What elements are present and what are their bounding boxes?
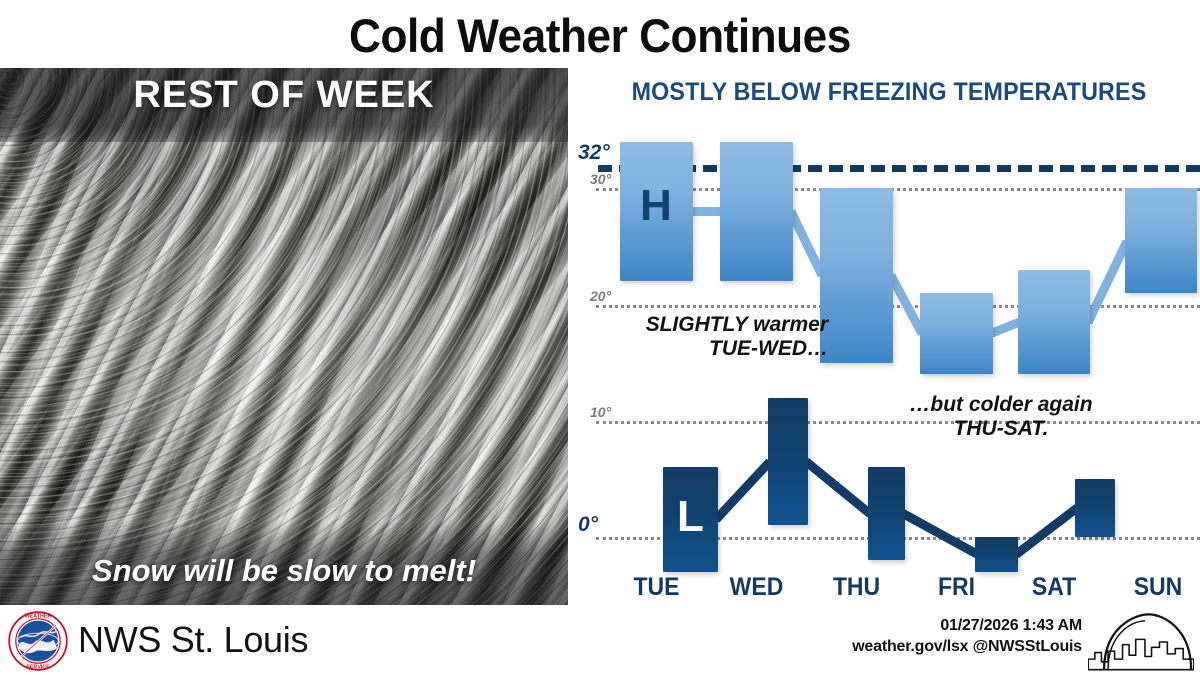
snow-photo-panel: REST OF WEEK Snow will be slow to melt! xyxy=(0,68,568,605)
day-label-sat: SAT xyxy=(1021,573,1087,602)
page-title: Cold Weather Continues xyxy=(349,12,851,59)
axis-tick-label-32: 32° xyxy=(578,141,610,165)
footer-social-handle: weather.gov/lsx @NWSStLouis xyxy=(852,638,1082,656)
low-connector-1 xyxy=(803,458,873,517)
high-connector-0 xyxy=(691,207,722,216)
axis-tick-label-30: 30° xyxy=(590,171,611,187)
day-label-wed: WED xyxy=(723,573,790,602)
low-bar-fri xyxy=(975,537,1018,572)
temperature-chart-panel: MOSTLY BELOW FREEZING TEMPERATURES 32°30… xyxy=(578,68,1200,605)
low-marker-letter: L xyxy=(677,495,704,539)
high-bar-sun xyxy=(1125,188,1197,293)
annotation-colder-line2: THU-SAT. xyxy=(876,417,1126,441)
annotation-warmer: SLIGHTLY warmerTUE-WED… xyxy=(592,313,828,362)
svg-text:SERVICE: SERVICE xyxy=(26,665,50,671)
footer-bar: WEATHER SERVICE NWS St. Louis 01/27/2026… xyxy=(0,605,1200,675)
title-bar: Cold Weather Continues xyxy=(0,0,1200,70)
annotation-colder-line1: …but colder again xyxy=(876,393,1126,417)
st-louis-arch-icon xyxy=(1088,613,1194,671)
footer-meta: 01/27/2026 1:43 AM weather.gov/lsx @NWSS… xyxy=(852,617,1082,656)
day-label-sun: SUN xyxy=(1121,573,1195,602)
low-connector-2 xyxy=(901,510,979,559)
annotation-warmer-line1: SLIGHTLY warmer xyxy=(592,313,828,337)
footer-timestamp: 01/27/2026 1:43 AM xyxy=(852,617,1082,635)
svg-text:WEATHER: WEATHER xyxy=(25,614,52,620)
day-label-fri: FRI xyxy=(923,573,990,602)
high-bar-thu xyxy=(820,188,893,362)
photo-caption: Snow will be slow to melt! xyxy=(0,553,568,589)
day-label-tue: TUE xyxy=(623,573,690,602)
photo-overlay-title: REST OF WEEK xyxy=(0,74,568,117)
low-connector-0 xyxy=(713,458,774,522)
axis-tick-label-10: 10° xyxy=(590,404,611,420)
annotation-warmer-line2: TUE-WED… xyxy=(592,337,828,361)
low-bar-thu xyxy=(868,467,905,560)
nws-seal-icon: WEATHER SERVICE xyxy=(8,611,68,671)
agency-name: NWS St. Louis xyxy=(78,619,308,661)
chart-plot-area: 32°30°20°10°0°HLTUEWEDTHUFRISATSUNSLIGHT… xyxy=(578,68,1200,605)
low-bar-sat xyxy=(1075,479,1115,537)
axis-tick-label-0: 0° xyxy=(578,513,598,537)
high-connector-4 xyxy=(1084,239,1131,324)
day-label-thu: THU xyxy=(823,573,890,602)
high-marker-letter: H xyxy=(640,184,672,228)
low-connector-3 xyxy=(1013,504,1079,558)
axis-tick-label-20: 20° xyxy=(590,288,611,304)
low-bar-wed xyxy=(768,398,808,526)
high-bar-fri xyxy=(920,293,993,374)
annotation-colder: …but colder againTHU-SAT. xyxy=(876,393,1126,442)
high-bar-wed xyxy=(720,142,793,281)
high-connector-3 xyxy=(989,318,1021,338)
high-bar-sat xyxy=(1018,270,1090,375)
gridline-20 xyxy=(596,305,1200,308)
